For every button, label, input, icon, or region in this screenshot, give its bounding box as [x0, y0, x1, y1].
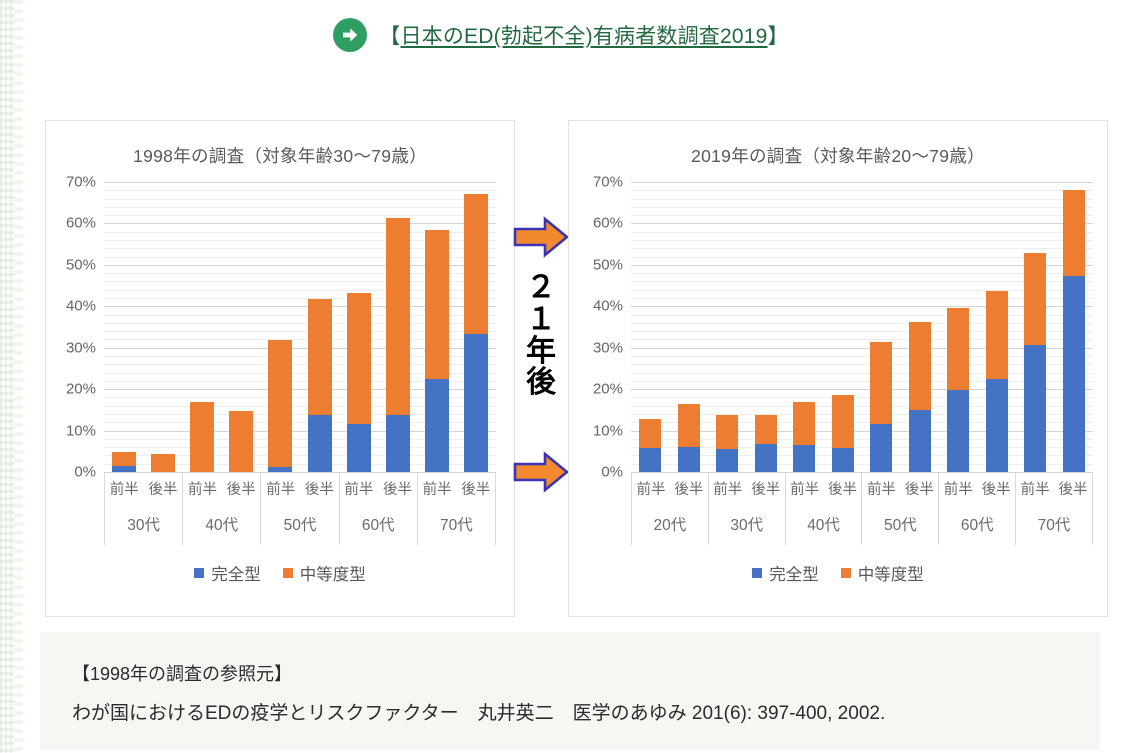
- x-axis-half-pair: 前半後半: [786, 473, 863, 504]
- bar-segment-moderate: [1063, 190, 1085, 275]
- transition-indicator: ２ １ 年 後: [510, 120, 572, 617]
- footer-reference-box: 【1998年の調査の参照元】 わが国におけるEDの疫学とリスクファクター 丸井英…: [40, 632, 1100, 750]
- x-axis-decade-label: 50代: [261, 504, 339, 545]
- gridline-major: [631, 472, 1093, 473]
- bar-segment-moderate: [190, 402, 214, 472]
- chart-1998-legend: 完全型 中等度型: [46, 561, 514, 585]
- bar-stack[interactable]: [793, 402, 815, 472]
- bar-group: [182, 182, 260, 472]
- chart-2019: 2019年の調査（対象年齢20〜79歳） 0%10%20%30%40%50%60…: [568, 120, 1108, 617]
- bar-segment-moderate: [1024, 253, 1046, 345]
- x-axis-decade-label: 40代: [786, 504, 863, 545]
- x-axis-half-label: 前半: [261, 473, 300, 504]
- chart-1998-axis: 前半後半前半後半前半後半前半後半前半後半30代40代50代60代70代: [46, 472, 514, 545]
- x-axis-decade-row: 30代40代50代60代70代: [104, 504, 496, 545]
- x-axis-decade-label: 20代: [632, 504, 709, 545]
- y-tick-label: 40%: [50, 298, 96, 315]
- bar-stack[interactable]: [464, 194, 488, 472]
- bar-stack[interactable]: [268, 340, 292, 472]
- bar-group: [862, 182, 939, 472]
- x-axis-half-label: 前半: [418, 473, 457, 504]
- green-circle-arrow-right-icon: [333, 18, 367, 52]
- x-axis-half-label: 後半: [456, 473, 495, 504]
- bar-group: [708, 182, 785, 472]
- bar-stack[interactable]: [347, 293, 371, 472]
- survey-link[interactable]: 日本のED(勃起不全)有病者数調査2019: [400, 25, 767, 48]
- bar-segment-complete: [870, 424, 892, 472]
- y-tick-label: 50%: [577, 256, 623, 273]
- x-axis-decade-label: 40代: [183, 504, 261, 545]
- chart-2019-title: 2019年の調査（対象年齢20〜79歳）: [569, 143, 1107, 168]
- bar-segment-complete: [347, 424, 371, 472]
- chart-1998-plot-wrap: 0%10%20%30%40%50%60%70% 前半後半前半後半前半後半前半後半…: [46, 182, 514, 545]
- bar-segment-complete: [639, 448, 661, 472]
- bar-stack[interactable]: [151, 454, 175, 472]
- bar-stack[interactable]: [716, 415, 738, 472]
- y-tick-label: 70%: [50, 174, 96, 191]
- x-axis-half-pair: 前半後半: [632, 473, 709, 504]
- x-axis-half-label: 前半: [1016, 473, 1054, 504]
- bar-stack[interactable]: [190, 402, 214, 472]
- chart-1998: 1998年の調査（対象年齢30〜79歳） 0%10%20%30%40%50%60…: [45, 120, 515, 617]
- bracket-open: 【: [379, 25, 400, 48]
- legend-label-moderate: 中等度型: [300, 561, 366, 585]
- bar-segment-complete: [947, 390, 969, 472]
- bar-stack[interactable]: [909, 322, 931, 472]
- legend-swatch-moderate: [283, 568, 293, 578]
- bar-stack[interactable]: [112, 452, 136, 472]
- y-axis-labels: 0%10%20%30%40%50%60%70%: [46, 182, 96, 472]
- bar-segment-moderate: [229, 411, 253, 472]
- bar-stack[interactable]: [755, 415, 777, 472]
- bar-segment-moderate: [870, 342, 892, 425]
- x-axis-half-label: 後半: [144, 473, 183, 504]
- y-tick-label: 60%: [50, 215, 96, 232]
- bar-stack[interactable]: [1024, 253, 1046, 472]
- bar-segment-moderate: [386, 218, 410, 415]
- x-axis-half-row: 前半後半前半後半前半後半前半後半前半後半前半後半: [631, 473, 1093, 504]
- bar-segment-moderate: [678, 404, 700, 447]
- bar-segment-moderate: [947, 308, 969, 390]
- x-axis-decade-label: 50代: [862, 504, 939, 545]
- x-axis-half-label: 前半: [340, 473, 379, 504]
- bar-group: [785, 182, 862, 472]
- bar-group: [339, 182, 417, 472]
- bar-stack[interactable]: [947, 308, 969, 472]
- x-axis-half-pair: 前半後半: [862, 473, 939, 504]
- legend-swatch-moderate: [841, 568, 851, 578]
- chart-2019-axis: 前半後半前半後半前半後半前半後半前半後半前半後半20代30代40代50代60代7…: [569, 472, 1107, 545]
- arrow-right-icon-top: [512, 215, 570, 259]
- x-axis-decade-label: 70代: [1016, 504, 1093, 545]
- bar-segment-complete: [308, 415, 332, 472]
- chart-2019-legend: 完全型 中等度型: [569, 561, 1107, 585]
- bar-segment-complete: [793, 445, 815, 472]
- x-axis-half-label: 後半: [670, 473, 708, 504]
- bar-stack[interactable]: [1063, 190, 1085, 472]
- legend-label-moderate: 中等度型: [858, 561, 924, 585]
- bar-group: [1016, 182, 1093, 472]
- bar-segment-complete: [986, 379, 1008, 472]
- vtext-line-3: 年: [510, 336, 572, 368]
- x-axis-half-label: 後半: [222, 473, 261, 504]
- bar-stack[interactable]: [870, 342, 892, 472]
- bar-segment-complete: [464, 334, 488, 472]
- bar-stack[interactable]: [986, 291, 1008, 472]
- y-tick-label: 20%: [50, 381, 96, 398]
- bar-group: [418, 182, 496, 472]
- y-tick-label: 0%: [50, 464, 96, 481]
- x-axis-decade-label: 70代: [418, 504, 496, 545]
- bar-segment-complete: [386, 415, 410, 472]
- bar-group: [261, 182, 339, 472]
- bar-segment-complete: [425, 379, 449, 472]
- x-axis-half-label: 前半: [709, 473, 747, 504]
- bar-stack[interactable]: [308, 299, 332, 472]
- x-axis-half-pair: 前半後半: [709, 473, 786, 504]
- bar-segment-moderate: [793, 402, 815, 446]
- bar-segment-complete: [909, 410, 931, 472]
- x-axis-decade-label: 30代: [105, 504, 183, 545]
- bar-segment-complete: [755, 444, 777, 472]
- bar-stack[interactable]: [639, 419, 661, 472]
- x-axis-half-pair: 前半後半: [105, 473, 183, 504]
- bar-segment-moderate: [986, 291, 1008, 379]
- legend-item-moderate: 中等度型: [283, 561, 366, 585]
- x-axis-half-label: 前半: [939, 473, 977, 504]
- transition-vertical-text: ２ １ 年 後: [510, 272, 572, 399]
- x-axis-half-pair: 前半後半: [261, 473, 339, 504]
- bar-segment-moderate: [268, 340, 292, 467]
- bracket-close: 】: [768, 25, 789, 48]
- legend-item-complete: 完全型: [752, 561, 819, 585]
- y-tick-label: 20%: [577, 381, 623, 398]
- bar-group: [939, 182, 1016, 472]
- x-axis-half-label: 前半: [105, 473, 144, 504]
- bar-segment-moderate: [716, 415, 738, 449]
- bar-stack[interactable]: [229, 411, 253, 472]
- x-axis-half-pair: 前半後半: [939, 473, 1016, 504]
- arrow-right-icon-bottom: [512, 450, 570, 494]
- x-axis: 前半後半前半後半前半後半前半後半前半後半30代40代50代60代70代: [104, 472, 496, 545]
- x-axis-half-label: 後半: [747, 473, 785, 504]
- bar-stack[interactable]: [832, 395, 854, 472]
- x-axis-half-label: 前半: [786, 473, 824, 504]
- x-axis-half-pair: 前半後半: [1016, 473, 1093, 504]
- x-axis-half-label: 後半: [900, 473, 938, 504]
- chart-1998-title: 1998年の調査（対象年齢30〜79歳）: [46, 143, 514, 168]
- y-tick-label: 30%: [50, 339, 96, 356]
- chart-2019-plot: 0%10%20%30%40%50%60%70%: [569, 182, 1107, 472]
- bar-stack[interactable]: [386, 218, 410, 472]
- bar-segment-moderate: [639, 419, 661, 448]
- x-axis-decade-label: 60代: [939, 504, 1016, 545]
- y-tick-label: 70%: [577, 174, 623, 191]
- y-tick-label: 40%: [577, 298, 623, 315]
- x-axis-half-label: 前半: [183, 473, 222, 504]
- bar-stack[interactable]: [678, 404, 700, 472]
- page-header: 【日本のED(勃起不全)有病者数調査2019】: [0, 18, 1122, 52]
- bar-segment-complete: [1063, 276, 1085, 472]
- bar-segment-moderate: [308, 299, 332, 415]
- x-axis-half-label: 後半: [977, 473, 1015, 504]
- y-axis-labels: 0%10%20%30%40%50%60%70%: [569, 182, 623, 472]
- bar-segment-complete: [678, 447, 700, 472]
- x-axis-decade-row: 20代30代40代50代60代70代: [631, 504, 1093, 545]
- x-axis-half-pair: 前半後半: [418, 473, 496, 504]
- y-tick-label: 0%: [577, 464, 623, 481]
- bar-segment-moderate: [347, 293, 371, 425]
- bar-segment-moderate: [832, 395, 854, 448]
- vtext-line-4: 後: [510, 367, 572, 399]
- bar-segment-moderate: [909, 322, 931, 411]
- bar-segment-complete: [268, 467, 292, 472]
- charts-row: 1998年の調査（対象年齢30〜79歳） 0%10%20%30%40%50%60…: [0, 120, 1122, 620]
- bar-segment-complete: [832, 448, 854, 472]
- page-title: 【日本のED(勃起不全)有病者数調査2019】: [379, 20, 788, 50]
- bar-group: [104, 182, 182, 472]
- y-tick-label: 30%: [577, 339, 623, 356]
- bar-segment-complete: [112, 466, 136, 472]
- bar-series: [631, 182, 1093, 472]
- bar-series: [104, 182, 496, 472]
- bar-segment-moderate: [112, 452, 136, 466]
- x-axis-half-pair: 前半後半: [183, 473, 261, 504]
- chart-2019-plot-wrap: 0%10%20%30%40%50%60%70% 前半後半前半後半前半後半前半後半…: [569, 182, 1107, 545]
- x-axis-decade-label: 30代: [709, 504, 786, 545]
- legend-label-complete: 完全型: [769, 561, 819, 585]
- chart-1998-plot: 0%10%20%30%40%50%60%70%: [46, 182, 514, 472]
- x-axis-half-pair: 前半後半: [340, 473, 418, 504]
- y-tick-label: 50%: [50, 256, 96, 273]
- x-axis-half-label: 後半: [1054, 473, 1092, 504]
- bar-segment-moderate: [755, 415, 777, 444]
- x-axis-half-row: 前半後半前半後半前半後半前半後半前半後半: [104, 473, 496, 504]
- gridline-major: [104, 472, 496, 473]
- x-axis-half-label: 前半: [862, 473, 900, 504]
- bar-group: [631, 182, 708, 472]
- x-axis-half-label: 後半: [300, 473, 339, 504]
- legend-item-moderate: 中等度型: [841, 561, 924, 585]
- legend-label-complete: 完全型: [211, 561, 261, 585]
- bar-segment-moderate: [464, 194, 488, 334]
- x-axis-half-label: 後半: [824, 473, 862, 504]
- y-tick-label: 10%: [50, 422, 96, 439]
- x-axis-half-label: 前半: [632, 473, 670, 504]
- legend-swatch-complete: [752, 568, 762, 578]
- vtext-line-1: ２: [510, 272, 572, 304]
- bar-segment-complete: [1024, 345, 1046, 472]
- bar-segment-complete: [716, 449, 738, 472]
- legend-swatch-complete: [194, 568, 204, 578]
- bar-segment-moderate: [425, 230, 449, 378]
- legend-item-complete: 完全型: [194, 561, 261, 585]
- y-tick-label: 10%: [577, 422, 623, 439]
- bar-segment-moderate: [151, 454, 175, 472]
- y-tick-label: 60%: [577, 215, 623, 232]
- x-axis: 前半後半前半後半前半後半前半後半前半後半前半後半20代30代40代50代60代7…: [631, 472, 1093, 545]
- bar-stack[interactable]: [425, 230, 449, 472]
- vtext-line-2: １: [510, 304, 572, 336]
- footer-reference-citation: わが国におけるEDの疫学とリスクファクター 丸井英二 医学のあゆみ 201(6)…: [72, 698, 885, 725]
- x-axis-half-label: 後半: [378, 473, 417, 504]
- footer-reference-heading: 【1998年の調査の参照元】: [72, 660, 292, 686]
- x-axis-decade-label: 60代: [340, 504, 418, 545]
